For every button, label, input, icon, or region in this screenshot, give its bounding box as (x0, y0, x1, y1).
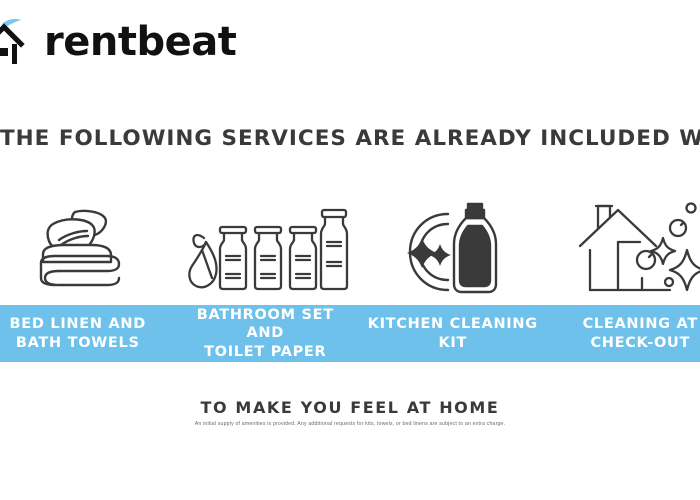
service-icon-sparkling-house (545, 186, 700, 298)
service-icon-dish-soap-plate (359, 186, 545, 298)
brand-name: rentbeat (44, 22, 236, 62)
house-logo-icon (0, 14, 38, 70)
service-label-band: BED LINEN AND BATH TOWELS BATHROOM SET A… (0, 305, 700, 362)
service-label-cleaning-at-checkout: CLEANING AT CHECK-OUT (547, 315, 700, 351)
footer-tagline: TO MAKE YOU FEEL AT HOME (0, 398, 700, 417)
service-label-kitchen-cleaning-kit: KITCHEN CLEANING KIT (359, 315, 547, 351)
promo-slide: rentbeat THE FOLLOWING SERVICES ARE ALRE… (0, 0, 700, 500)
service-icon-toiletry-bottles (174, 186, 360, 298)
brand-logo[interactable]: rentbeat (0, 14, 236, 70)
service-icon-row (0, 186, 700, 298)
footer-disclaimer: An initial supply of amenities is provid… (0, 421, 700, 427)
service-label-bed-linen-towels: BED LINEN AND BATH TOWELS (0, 315, 172, 351)
page-title: THE FOLLOWING SERVICES ARE ALREADY INCLU… (0, 126, 700, 151)
service-icon-bed-linen-towels (0, 186, 174, 298)
service-label-bathroom-set: BATHROOM SET AND TOILET PAPER (172, 306, 360, 360)
